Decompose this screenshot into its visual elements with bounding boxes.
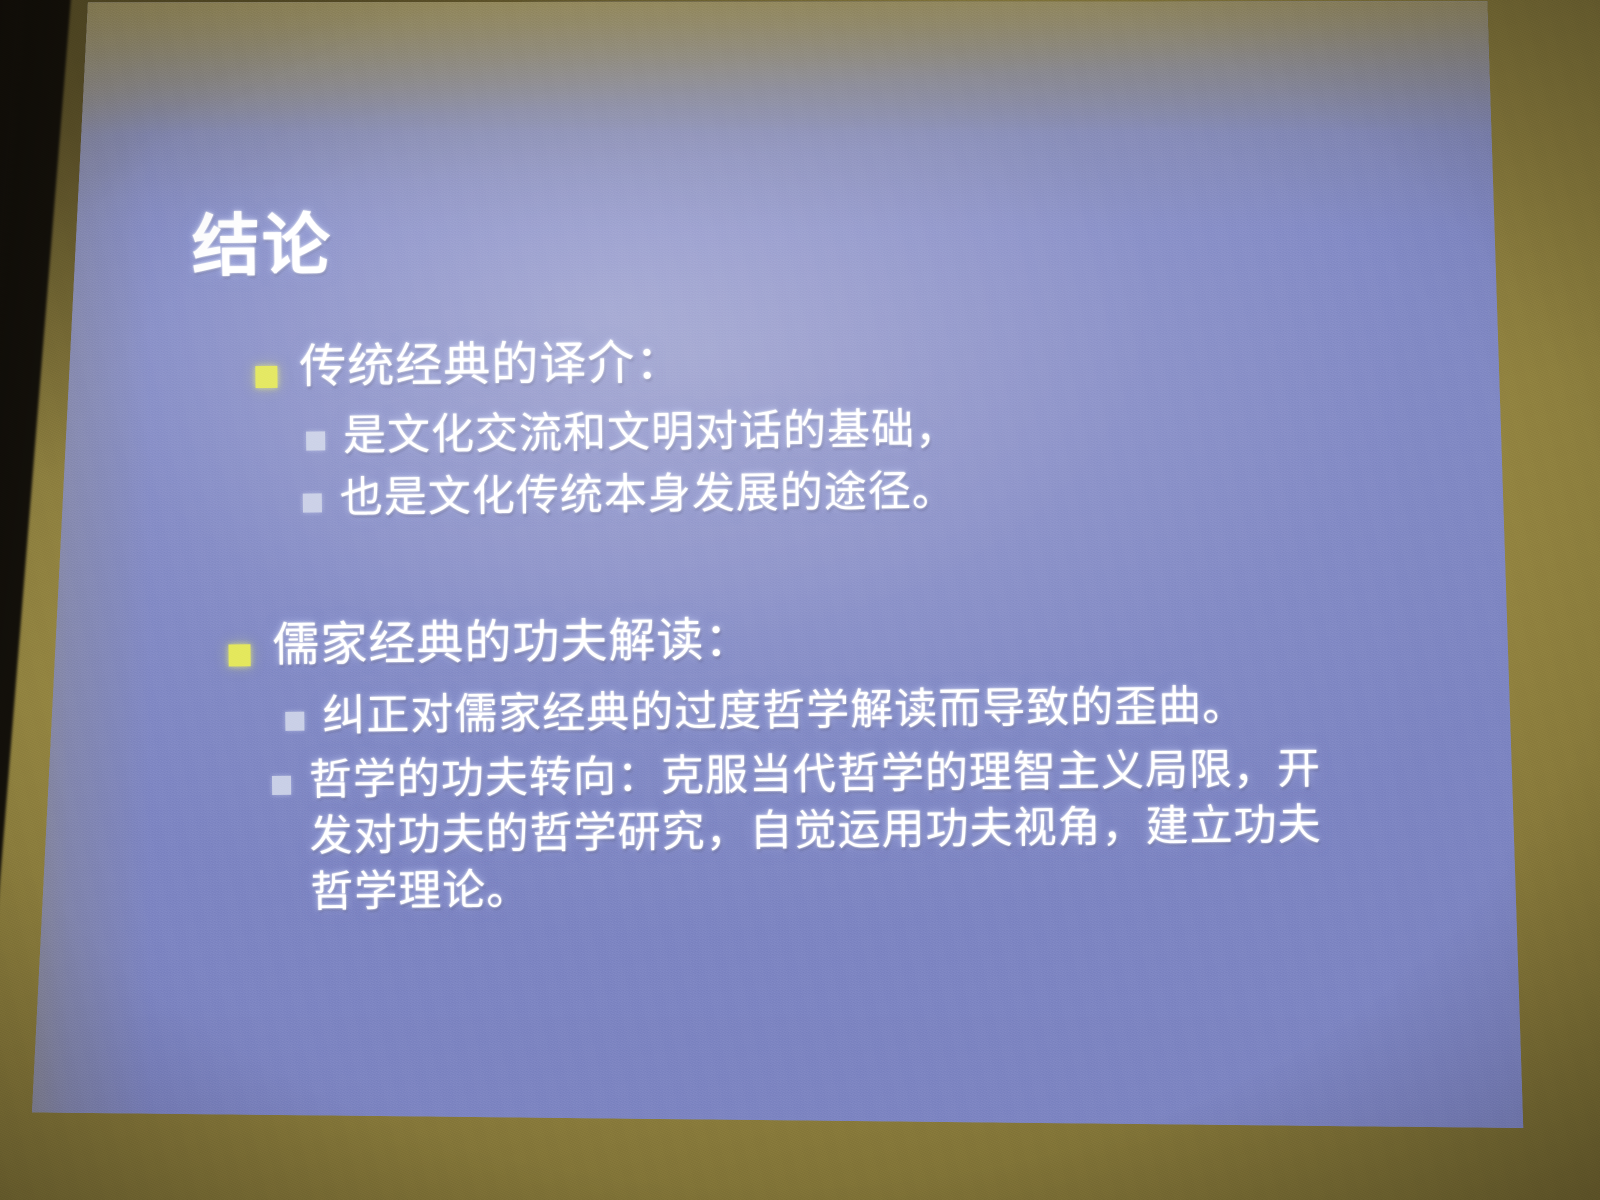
white-square-bullet-icon xyxy=(306,431,325,450)
bullet-level2-section-2-item-2: 哲学的功夫转向：克服当代哲学的理智主义局限，开发对功夫的哲学研究，自觉运用功夫视… xyxy=(272,742,1341,922)
white-square-bullet-icon xyxy=(285,712,304,731)
bullet-level1-section-1: 传统经典的译介： xyxy=(255,335,684,395)
yellow-square-bullet-icon xyxy=(255,366,277,388)
white-square-bullet-icon xyxy=(272,776,291,795)
bullet-level2-section-2-item-1: 纠正对儒家经典的过度哲学解读而导致的歪曲。 xyxy=(285,679,1247,746)
bullet-level2-section-1-item-1: 是文化交流和文明对话的基础， xyxy=(306,402,960,465)
white-square-bullet-icon xyxy=(303,493,322,512)
yellow-square-bullet-icon xyxy=(228,644,250,666)
bullet-level2-section-1-item-2: 也是文化传统本身发展的途径。 xyxy=(303,464,957,527)
slide-surface: 结论 传统经典的译介： 是文化交流和文明对话的基础， 也是文化传统本身发展的途径… xyxy=(0,0,1600,1200)
section-1-heading: 传统经典的译介： xyxy=(299,335,684,395)
section-1-subitem-2-text: 也是文化传统本身发展的途径。 xyxy=(340,464,957,527)
projection-area: 结论 传统经典的译介： 是文化交流和文明对话的基础， 也是文化传统本身发展的途径… xyxy=(0,0,1600,1200)
slide-content: 结论 传统经典的译介： 是文化交流和文明对话的基础， 也是文化传统本身发展的途径… xyxy=(0,0,1600,1200)
bullet-level1-section-2: 儒家经典的功夫解读： xyxy=(228,613,753,674)
section-2-subitem-2-text: 哲学的功夫转向：克服当代哲学的理智主义局限，开发对功夫的哲学研究，自觉运用功夫视… xyxy=(309,742,1341,921)
section-2-subitem-1-text: 纠正对儒家经典的过度哲学解读而导致的歪曲。 xyxy=(322,679,1247,745)
section-2-heading: 儒家经典的功夫解读： xyxy=(272,613,753,674)
section-1-subitem-1-text: 是文化交流和文明对话的基础， xyxy=(343,402,960,465)
slide-title: 结论 xyxy=(192,211,333,281)
projected-slide-photo: 结论 传统经典的译介： 是文化交流和文明对话的基础， 也是文化传统本身发展的途径… xyxy=(0,0,1600,1200)
